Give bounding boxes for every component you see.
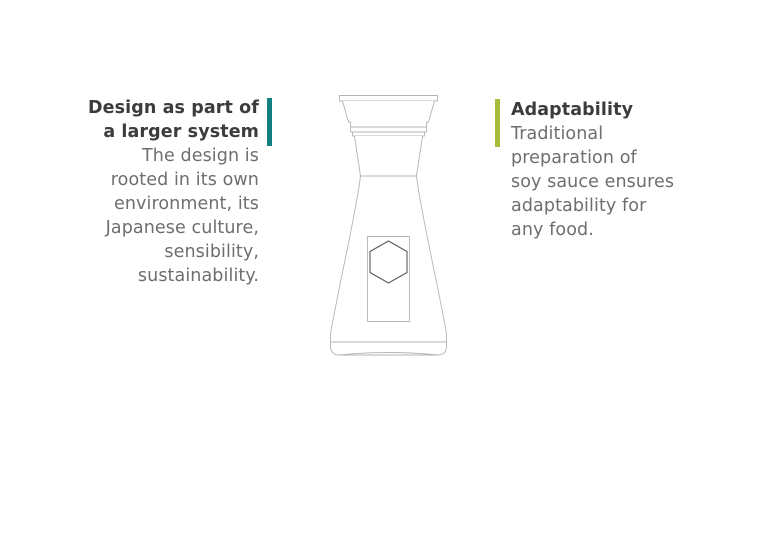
callout-left-body-line-3: environment, its [72,192,259,216]
callout-right-heading-line-1: Adaptability [511,98,705,122]
accent-bar-teal [267,98,272,146]
callout-left-text: Design as part of a larger system The de… [72,96,267,288]
callout-right-body-line-3: soy sauce ensures [511,170,705,194]
callout-left-heading-line-2: a larger system [72,120,259,144]
slide-canvas: Design as part of a larger system The de… [0,0,768,541]
callout-left-heading-line-1: Design as part of [72,96,259,120]
collar-ring-lower [353,132,425,136]
cap-top-rim [340,96,438,102]
callout-right-body-line-4: adaptability for [511,194,705,218]
callout-left-body-line-1: The design is [72,144,259,168]
callout-left-body-line-6: sustainability. [72,264,259,288]
cap-funnel [343,101,435,127]
callout-left-body-line-2: rooted in its own [72,168,259,192]
callout-right-body-line-2: preparation of [511,146,705,170]
collar-ring-upper [351,127,427,132]
bottle-neck [355,136,423,176]
callout-right: Adaptability Traditional preparation of … [495,98,705,242]
callout-left: Design as part of a larger system The de… [72,96,272,288]
callout-right-body-line-5: any food. [511,218,705,242]
callout-right-body-line-1: Traditional [511,122,705,146]
callout-right-text: Adaptability Traditional preparation of … [500,98,705,242]
callout-left-body-line-5: sensibility, [72,240,259,264]
callout-left-body-line-4: Japanese culture, [72,216,259,240]
soy-sauce-bottle-icon [306,84,471,376]
